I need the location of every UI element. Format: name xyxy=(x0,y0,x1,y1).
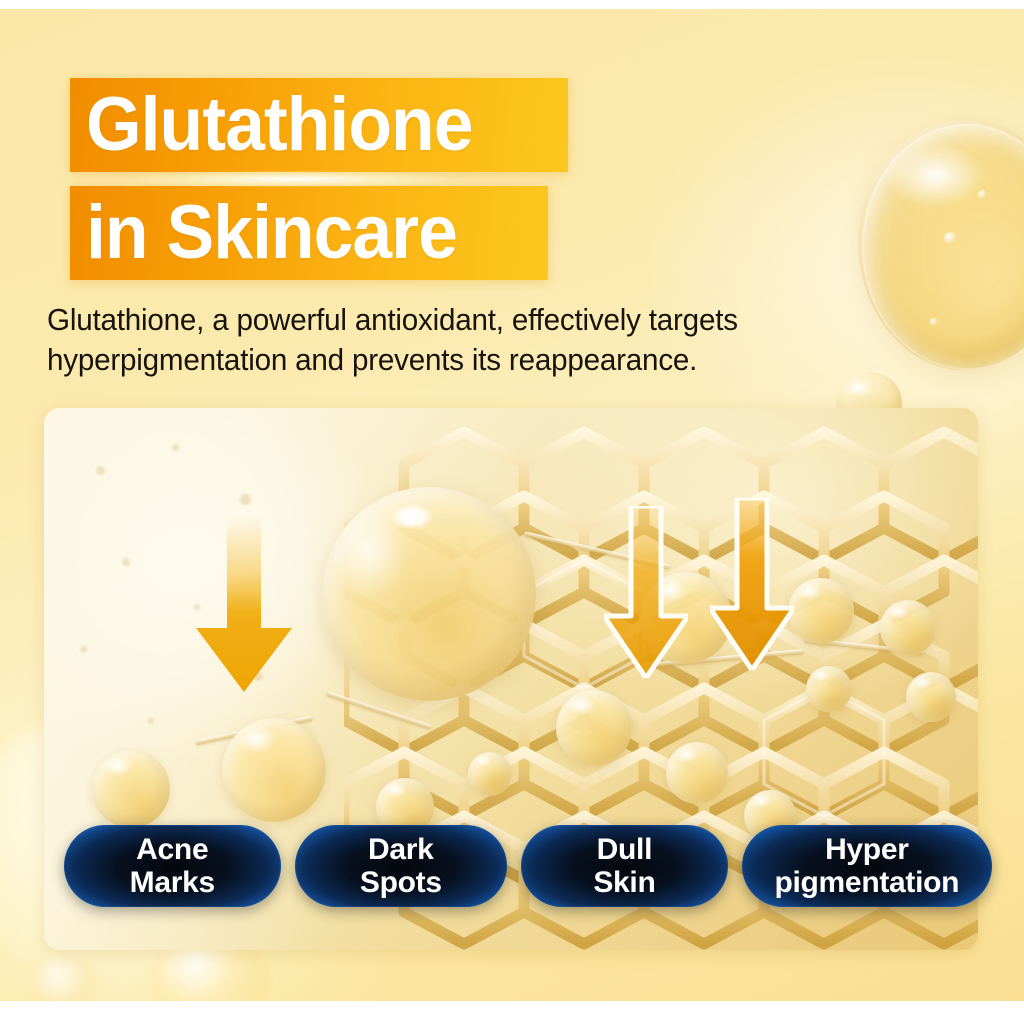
title-banner-line1: Glutathione xyxy=(70,78,568,172)
pill-dull-skin[interactable]: Dull Skin xyxy=(521,825,728,907)
title-line2-text: in Skincare xyxy=(86,194,457,272)
photo-speck xyxy=(240,494,251,505)
pill-hyperpigmentation[interactable]: Hyper pigmentation xyxy=(742,825,992,907)
bottom-white-edge xyxy=(0,1001,1024,1024)
top-white-edge xyxy=(0,0,1024,9)
concern-pill-row: Acne Marks Dark Spots Dull Skin Hyper pi… xyxy=(64,824,992,908)
title-banner-line2: in Skincare xyxy=(70,186,548,280)
pill-dark-spots[interactable]: Dark Spots xyxy=(295,825,508,907)
molecule-sphere xyxy=(666,742,728,804)
infographic-poster: Glutathione in Skincare Glutathione, a p… xyxy=(0,0,1024,1024)
arrow-down-left-icon xyxy=(196,516,292,692)
photo-speck xyxy=(80,646,87,653)
glutathione-molecule-sphere xyxy=(322,487,536,701)
photo-speck xyxy=(148,718,154,724)
molecule-sphere xyxy=(556,690,632,766)
molecule-sphere xyxy=(906,672,956,722)
photo-speck xyxy=(172,444,179,451)
molecule-sphere xyxy=(468,752,512,796)
hero-droplet-bubble xyxy=(930,318,938,326)
molecule-sphere xyxy=(806,666,852,712)
pill-acne-marks[interactable]: Acne Marks xyxy=(64,825,281,907)
photo-speck xyxy=(96,466,105,475)
molecule-sphere xyxy=(92,750,170,828)
title-line1-text: Glutathione xyxy=(86,86,473,164)
subtitle-text: Glutathione, a powerful antioxidant, eff… xyxy=(47,300,872,380)
molecule-sphere xyxy=(222,718,326,822)
photo-speck xyxy=(122,558,130,566)
hero-droplet-bubble xyxy=(944,232,957,245)
molecule-sphere xyxy=(788,578,854,644)
molecule-sphere xyxy=(880,600,936,656)
hero-droplet-bubble xyxy=(978,190,987,199)
arrow-down-right-icon xyxy=(710,498,794,670)
arrow-down-middle-icon xyxy=(604,506,688,678)
